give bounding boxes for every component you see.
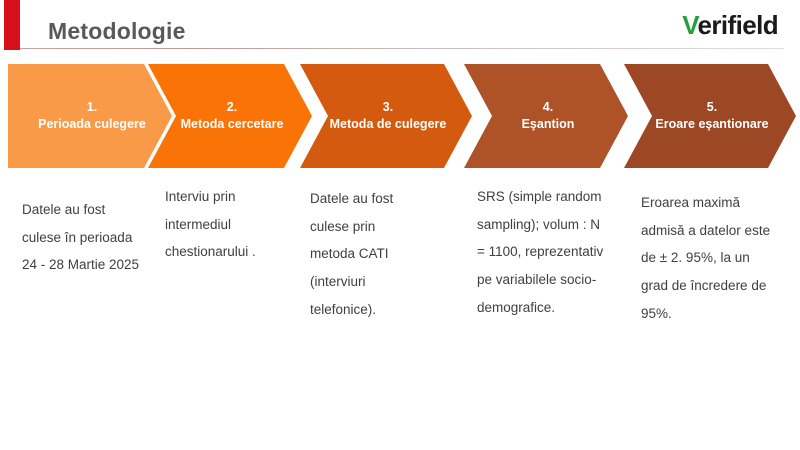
process-step-4-label: 4. Eşantion <box>512 99 581 134</box>
process-step-5-description: Eroarea maximă admisă a datelor este de … <box>641 189 771 327</box>
process-step-3-number: 3. <box>330 99 447 116</box>
logo-wordmark: erifield <box>698 10 778 40</box>
process-step-4-title: Eşantion <box>522 116 575 133</box>
process-step-1-chevron[interactable]: 1. Perioada culegere <box>8 64 172 168</box>
process-step-4-description: SRS (simple random sampling); volum : N … <box>477 183 607 321</box>
process-step-2-label: 2. Metoda cercetare <box>171 99 290 134</box>
page-title: Metodologie <box>48 18 186 45</box>
process-step-1-title: Perioada culegere <box>38 116 146 133</box>
process-step-1-description: Datele au fost culese în perioada 24 - 2… <box>22 196 148 279</box>
process-step-2-chevron[interactable]: 2. Metoda cercetare <box>148 64 312 168</box>
process-step-3-description: Datele au fost culese prin metoda CATI (… <box>310 185 424 323</box>
process-step-4-number: 4. <box>522 99 575 116</box>
process-step-5-number: 5. <box>655 99 768 116</box>
logo-initial: V <box>682 10 697 40</box>
process-step-3-chevron[interactable]: 3. Metoda de culegere <box>300 64 472 168</box>
process-step-3-label: 3. Metoda de culegere <box>320 99 453 134</box>
process-chevron-band: 1. Perioada culegere 2. Metoda cercetare… <box>0 64 800 168</box>
verifield-logo: Verifield <box>682 10 778 41</box>
process-step-4-chevron[interactable]: 4. Eşantion <box>464 64 628 168</box>
process-step-5-title: Eroare eşantionare <box>655 116 768 133</box>
header-accent-bar <box>4 0 20 50</box>
header-divider <box>20 48 784 49</box>
process-step-5-chevron[interactable]: 5. Eroare eşantionare <box>624 64 796 168</box>
slide-footer-space <box>0 380 800 450</box>
slide-header: Metodologie Verifield <box>0 0 800 54</box>
process-step-2-title: Metoda cercetare <box>181 116 284 133</box>
process-step-3-title: Metoda de culegere <box>330 116 447 133</box>
process-step-1-label: 1. Perioada culegere <box>28 99 152 134</box>
process-step-2-description: Interviu prin intermediul chestionarului… <box>165 183 291 266</box>
process-step-1-number: 1. <box>38 99 146 116</box>
process-step-5-label: 5. Eroare eşantionare <box>645 99 774 134</box>
process-step-2-number: 2. <box>181 99 284 116</box>
